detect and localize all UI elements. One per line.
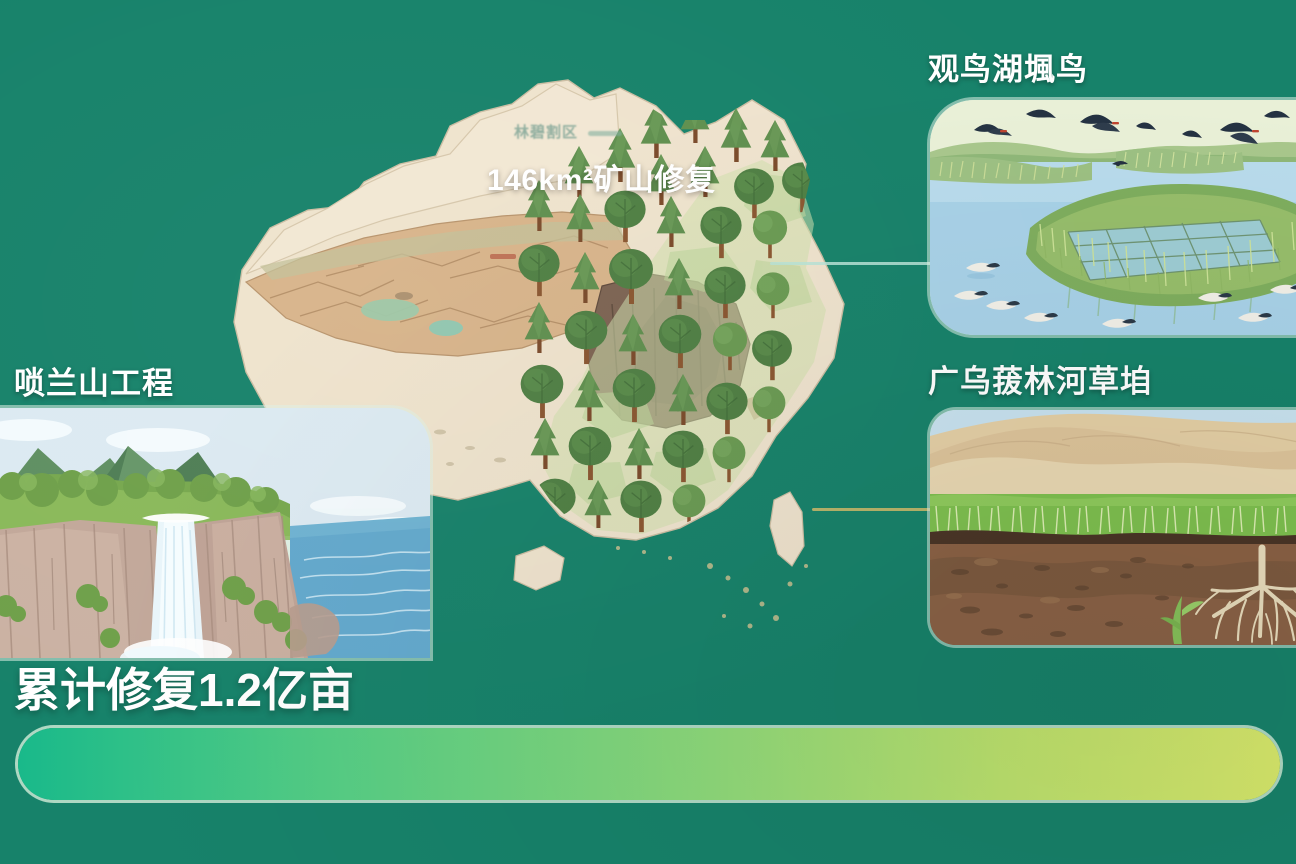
island-taiwan (770, 492, 804, 566)
panel-grassland-image (930, 410, 1296, 645)
connector-line-grassland (812, 508, 940, 511)
map-label-mine-restoration: 146km²矿山修复 (487, 155, 715, 199)
infographic-canvas: 林碧割区 146km²矿山修复 观鸟湖堸鸟 (0, 0, 1296, 864)
lake (361, 299, 419, 321)
panel-title-grassland: 广乌菝林河草垍 (928, 356, 1152, 401)
island-hainan (514, 546, 564, 590)
panel-title-wetland: 观鸟湖堸鸟 (928, 44, 1088, 89)
lake (429, 320, 463, 336)
restoration-progress-bar[interactable] (18, 728, 1280, 800)
panel-waterfall[interactable] (0, 408, 430, 658)
map-label-secondary: 林碧割区 (514, 121, 622, 142)
panel-waterfall-image (0, 408, 430, 658)
footer-headline: 累计修复1.2亿亩 (14, 654, 354, 720)
progress-fill (18, 728, 1280, 800)
panel-wetland-image (930, 100, 1296, 335)
panel-title-waterfall: 唢兰山工程 (14, 358, 174, 403)
connector-line-wetland (770, 262, 942, 265)
panel-wetland[interactable] (930, 100, 1296, 335)
south-sea-islands (616, 546, 808, 629)
panel-grassland[interactable] (930, 410, 1296, 645)
